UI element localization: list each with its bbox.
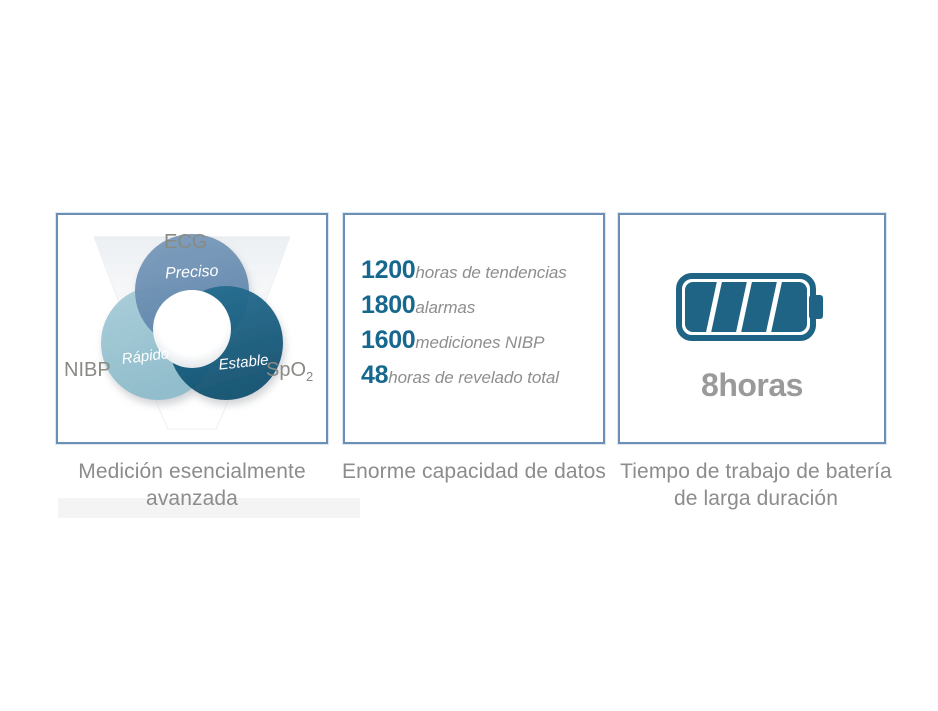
stat-number: 48 — [361, 361, 388, 389]
panel-caption-battery: Tiempo de trabajo de batería de larga du… — [610, 458, 902, 512]
stat-row: 1200horas de tendencias — [357, 253, 605, 288]
panel-caption-data-capacity: Enorme capacidad de datos — [338, 458, 610, 485]
stat-label: alarmas — [415, 298, 475, 317]
battery-hours-value: 8horas — [620, 367, 884, 404]
stat-label: horas de tendencias — [415, 263, 566, 282]
venn-outer-label-spo2: SpO2 — [266, 359, 313, 384]
panel-measurement: Preciso Rápido Estable ECG NIBP SpO2 — [56, 213, 328, 444]
venn-diagram: Preciso Rápido Estable ECG NIBP SpO2 — [58, 215, 326, 442]
stat-number: 1800 — [361, 291, 415, 319]
panel-caption-measurement: Medición esencialmente avanzada — [46, 458, 338, 512]
venn-outer-label-ecg: ECG — [164, 231, 207, 254]
caption-ghost-block — [338, 498, 360, 518]
stat-number: 1600 — [361, 326, 415, 354]
panel-battery: 8horas — [618, 213, 886, 444]
venn-label-preciso: Preciso — [165, 263, 219, 283]
stat-number: 1200 — [361, 256, 415, 284]
slide-canvas: Preciso Rápido Estable ECG NIBP SpO2 120… — [0, 0, 938, 711]
stat-label: mediciones NIBP — [415, 333, 544, 352]
battery-graphic: 8horas — [620, 215, 884, 442]
stat-row: 1600mediciones NIBP — [357, 323, 605, 358]
venn-outer-label-nibp: NIBP — [64, 359, 111, 382]
panel-data-capacity: 1200horas de tendencias 1800alarmas 1600… — [343, 213, 605, 444]
stat-label: horas de revelado total — [388, 368, 559, 387]
stat-row: 48horas de revelado total — [357, 358, 605, 393]
stat-row: 1800alarmas — [357, 288, 605, 323]
spo2-subscript: 2 — [306, 369, 313, 384]
battery-full-icon — [676, 271, 828, 343]
spo2-base: SpO — [266, 359, 306, 381]
stat-list: 1200horas de tendencias 1800alarmas 1600… — [357, 253, 605, 393]
